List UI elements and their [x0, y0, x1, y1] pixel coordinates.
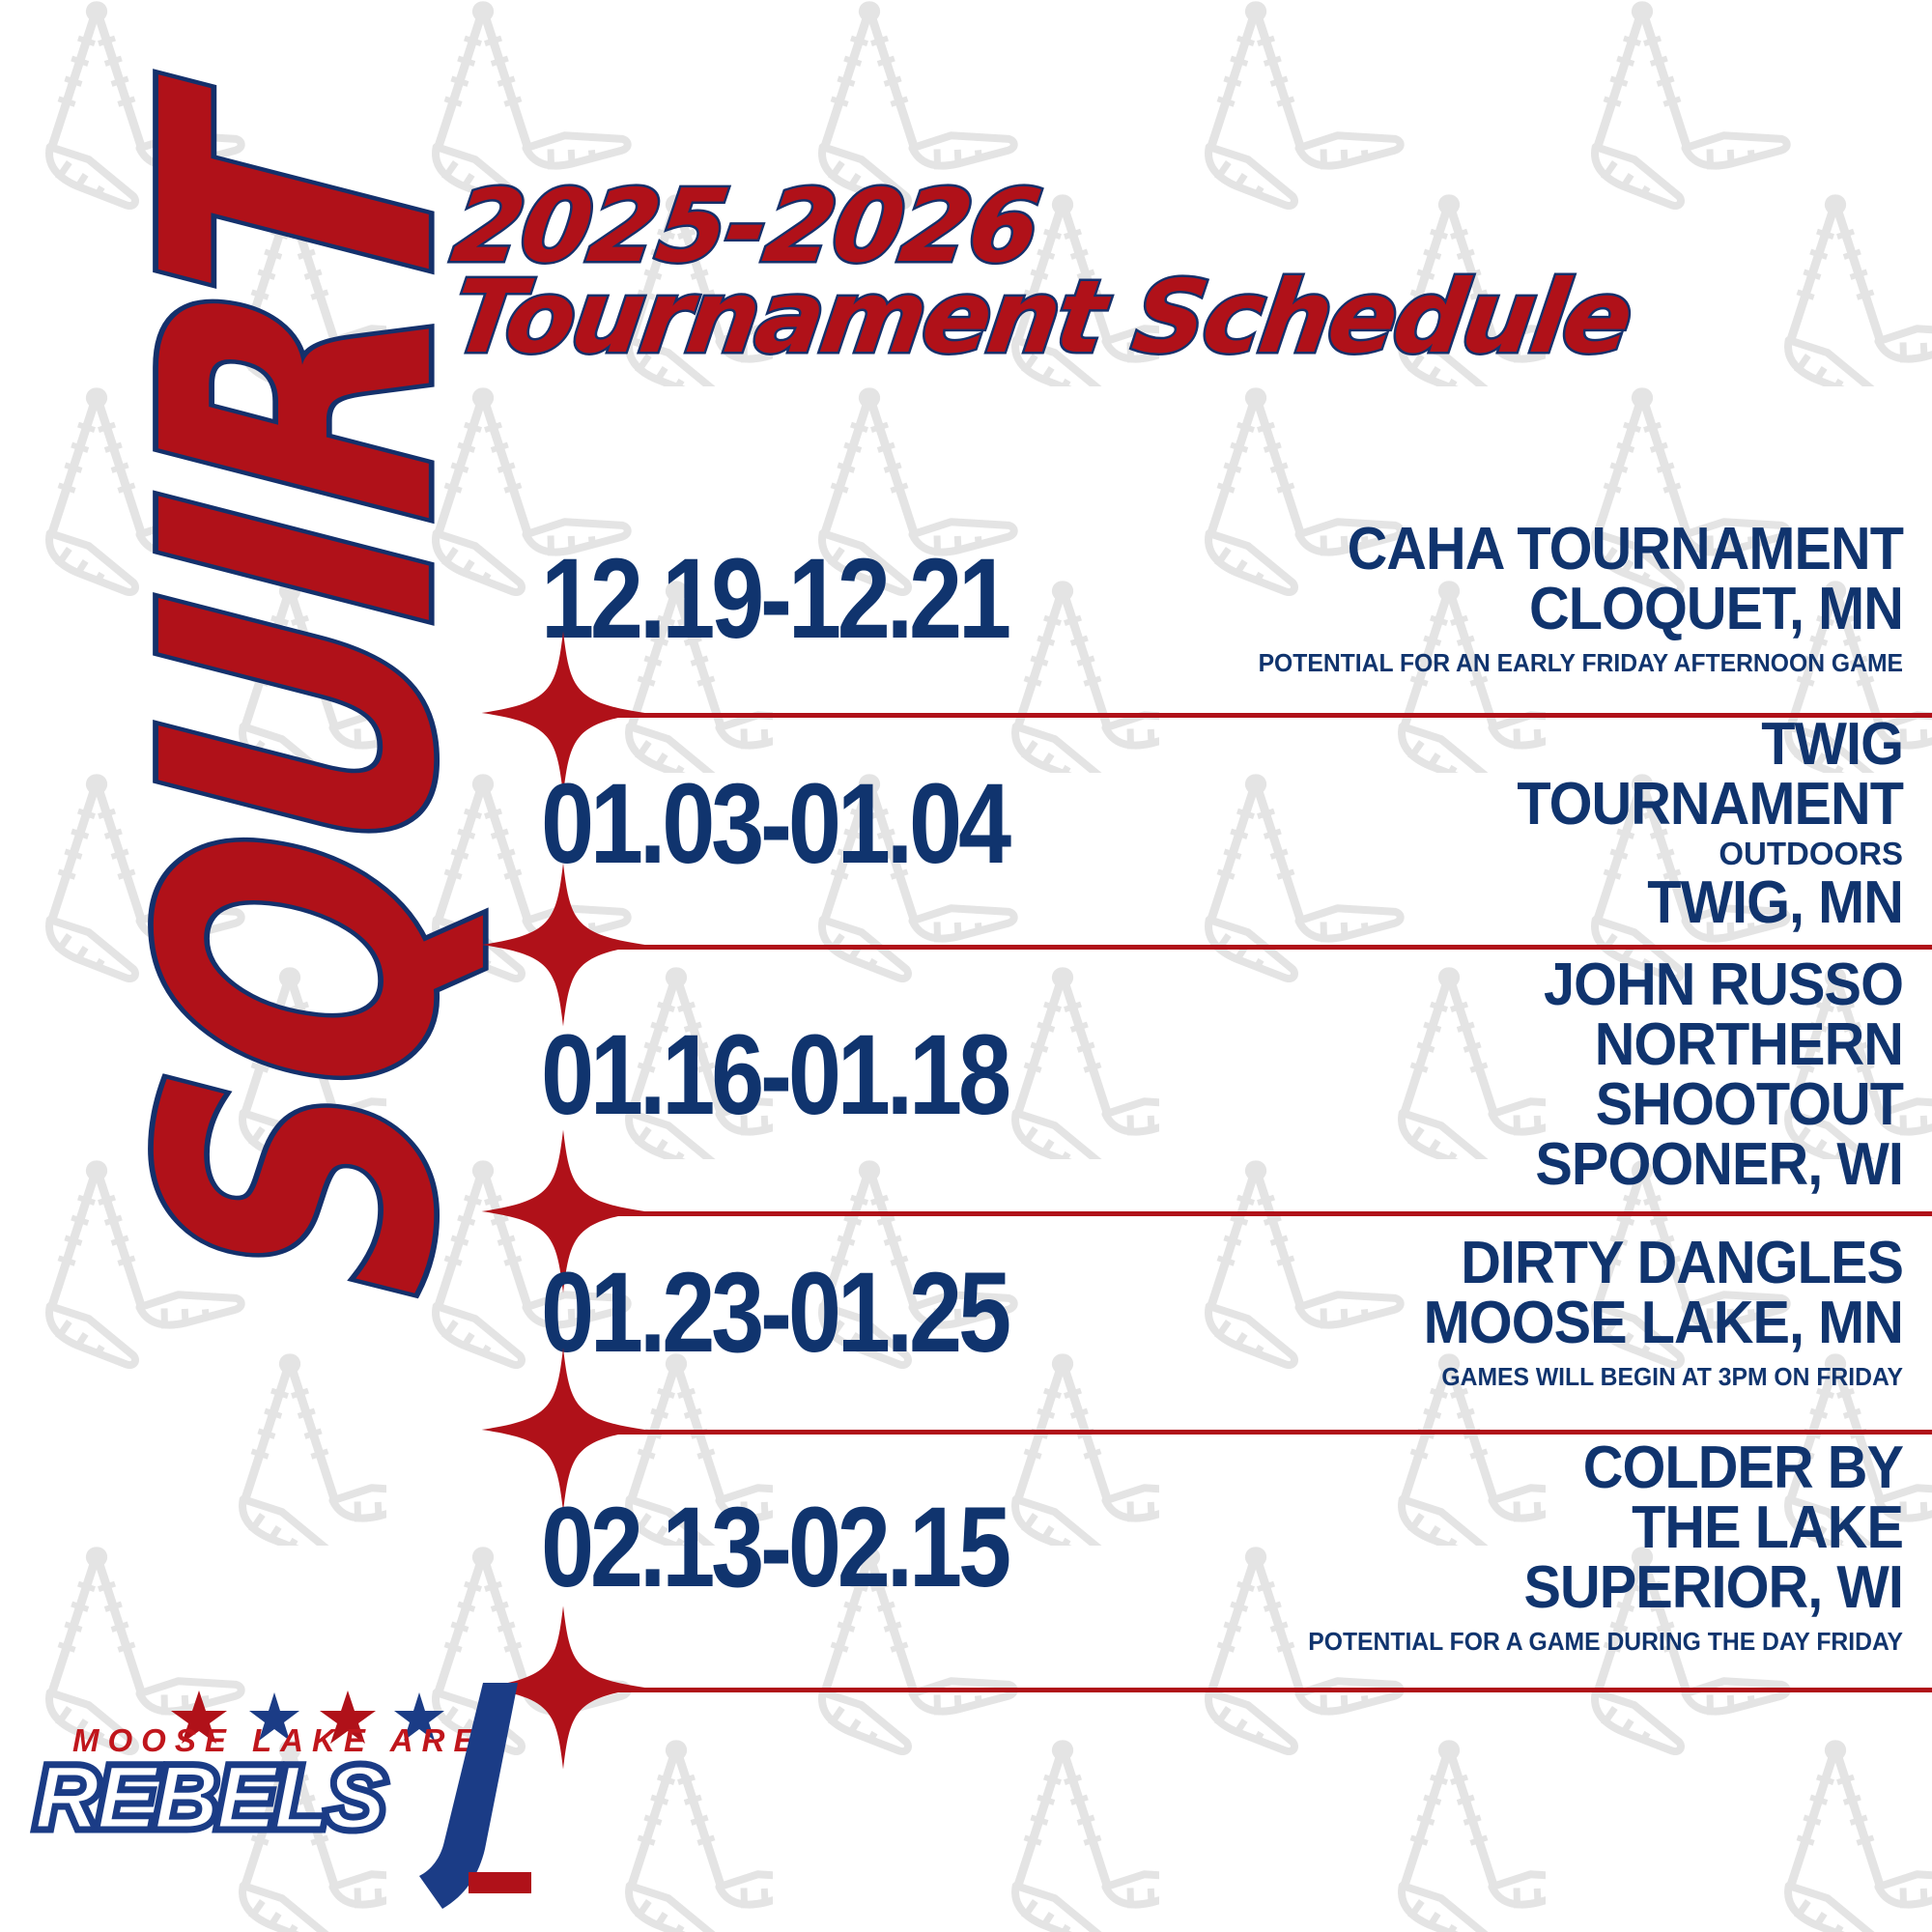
row-note: POTENTIAL FOR A GAME DURING THE DAY FRID…	[1215, 1627, 1904, 1657]
row-date: 01.16-01.18	[541, 1017, 1076, 1133]
schedule-row: 01.03-01.04 TWIG TOURNAMENT OUTDOORS TWI…	[541, 713, 1913, 935]
divider-rule	[618, 1688, 1932, 1692]
row-title-line: TWIG, MN	[1230, 873, 1904, 933]
row-info: CAHA TOURNAMENT CLOQUET, MN POTENTIAL FO…	[1179, 520, 1913, 678]
row-info: TWIG TOURNAMENT OUTDOORS TWIG, MN	[1179, 715, 1913, 933]
team-logo: MOOSE LAKE AREA REBELS REBELS	[29, 1633, 531, 1913]
row-title-line: CLOQUET, MN	[1230, 580, 1904, 639]
division-wordmark: SQUIRT	[142, 140, 461, 1261]
row-title-line: NORTHERN	[1230, 1015, 1904, 1075]
row-subnote: OUTDOORS	[1179, 837, 1903, 871]
row-date: 02.13-02.15	[541, 1490, 1076, 1605]
row-title-line: TWIG	[1230, 715, 1904, 775]
schedule-row: 01.16-01.18 JOHN RUSSO NORTHERN SHOOTOUT…	[541, 945, 1913, 1206]
page-title: 2025-2026 Tournament Schedule	[454, 179, 1517, 366]
row-note: POTENTIAL FOR AN EARLY FRIDAY AFTERNOON …	[1215, 648, 1904, 678]
row-title-line: CAHA TOURNAMENT	[1230, 520, 1904, 580]
division-wordmark-text: SQUIRT	[116, 96, 487, 1306]
schedule-row: 01.23-01.25 DIRTY DANGLES MOOSE LAKE, MN…	[541, 1211, 1913, 1414]
row-title-line: TOURNAMENT	[1230, 775, 1904, 835]
row-title-line: SHOOTOUT	[1230, 1075, 1904, 1135]
row-title-line: MOOSE LAKE, MN	[1230, 1293, 1904, 1353]
row-info: COLDER BY THE LAKE SUPERIOR, WI POTENTIA…	[1179, 1438, 1913, 1657]
row-title-line: COLDER BY	[1230, 1438, 1904, 1498]
schedule-row: 02.13-02.15 COLDER BY THE LAKE SUPERIOR,…	[541, 1430, 1913, 1666]
title-text: Tournament Schedule	[454, 275, 1517, 366]
row-note: GAMES WILL BEGIN AT 3PM ON FRIDAY	[1215, 1362, 1904, 1392]
tournament-schedule-list: 12.19-12.21 CAHA TOURNAMENT CLOQUET, MN …	[541, 502, 1913, 1688]
row-title-line: THE LAKE	[1230, 1498, 1904, 1558]
row-title-line: JOHN RUSSO	[1230, 955, 1904, 1015]
svg-text:REBELS: REBELS	[35, 1748, 385, 1847]
row-title-line: SUPERIOR, WI	[1230, 1558, 1904, 1618]
row-title-line: SPOONER, WI	[1230, 1135, 1904, 1195]
schedule-row: 12.19-12.21 CAHA TOURNAMENT CLOQUET, MN …	[541, 502, 1913, 696]
row-title-line: DIRTY DANGLES	[1230, 1234, 1904, 1293]
row-info: JOHN RUSSO NORTHERN SHOOTOUT SPOONER, WI	[1179, 955, 1913, 1195]
row-info: DIRTY DANGLES MOOSE LAKE, MN GAMES WILL …	[1179, 1234, 1913, 1392]
